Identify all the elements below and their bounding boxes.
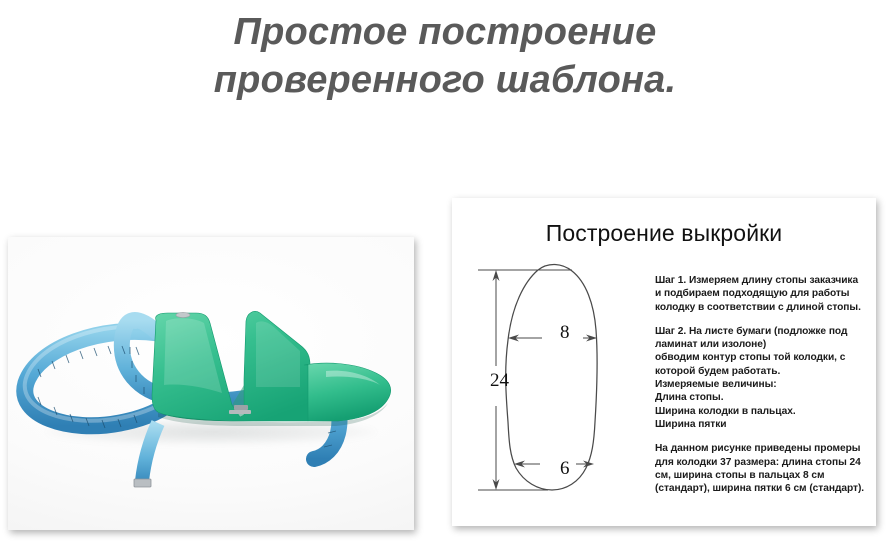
paragraph-gap-2 (655, 431, 869, 442)
dimension-label-toe-width: 8 (560, 322, 570, 344)
instructions-text-block: Шаг 1. Измеряем длину стопы заказчика и … (655, 274, 869, 495)
measure-item-3: Ширина пятки (655, 418, 869, 431)
dimension-label-length: 24 (490, 370, 509, 392)
step2-line2: ламинат или изолоне) (655, 338, 869, 351)
page-title-line-1: Простое построение (0, 8, 890, 56)
dimension-label-heel-width: 6 (560, 458, 570, 480)
diagram-heading: Построение выкройки (452, 220, 876, 247)
paragraph-gap-1 (655, 314, 869, 325)
measure-item-1: Длина стопы. (655, 391, 869, 404)
page-title: Простое построение проверенного шаблона. (0, 8, 890, 104)
note-line4: (стандарт), ширина пятки 6 см (стандарт)… (655, 482, 869, 495)
step1-line3: колодку в соответствии с длиной стопы. (655, 301, 869, 314)
measure-title: Измеряемые величины: (655, 378, 869, 391)
shoe-last-photo (8, 237, 414, 530)
measure-item-2: Ширина колодки в пальцах. (655, 405, 869, 418)
note-line3: см, ширина стопы в пальцах 8 см (655, 469, 869, 482)
step2-line1: Шаг 2. На листе бумаги (подложке под (655, 325, 869, 338)
pattern-diagram-card: Построение выкройки 24 8 (452, 198, 876, 526)
step2-line4: которой будем работать. (655, 365, 869, 378)
page-title-line-2: проверенного шаблона. (0, 56, 890, 104)
step1-line2: и подбираем подходящую для работы (655, 287, 869, 300)
shoe-last-icon (8, 237, 414, 530)
shoe-last-photo-card (8, 237, 414, 530)
note-line2: для колодки 37 размера: длина стопы 24 (655, 456, 869, 469)
note-line1: На данном рисунке приведены промеры (655, 442, 869, 455)
step2-line3: обводим контур стопы той колодки, с (655, 351, 869, 364)
step1-line1: Шаг 1. Измеряем длину стопы заказчика (655, 274, 869, 287)
